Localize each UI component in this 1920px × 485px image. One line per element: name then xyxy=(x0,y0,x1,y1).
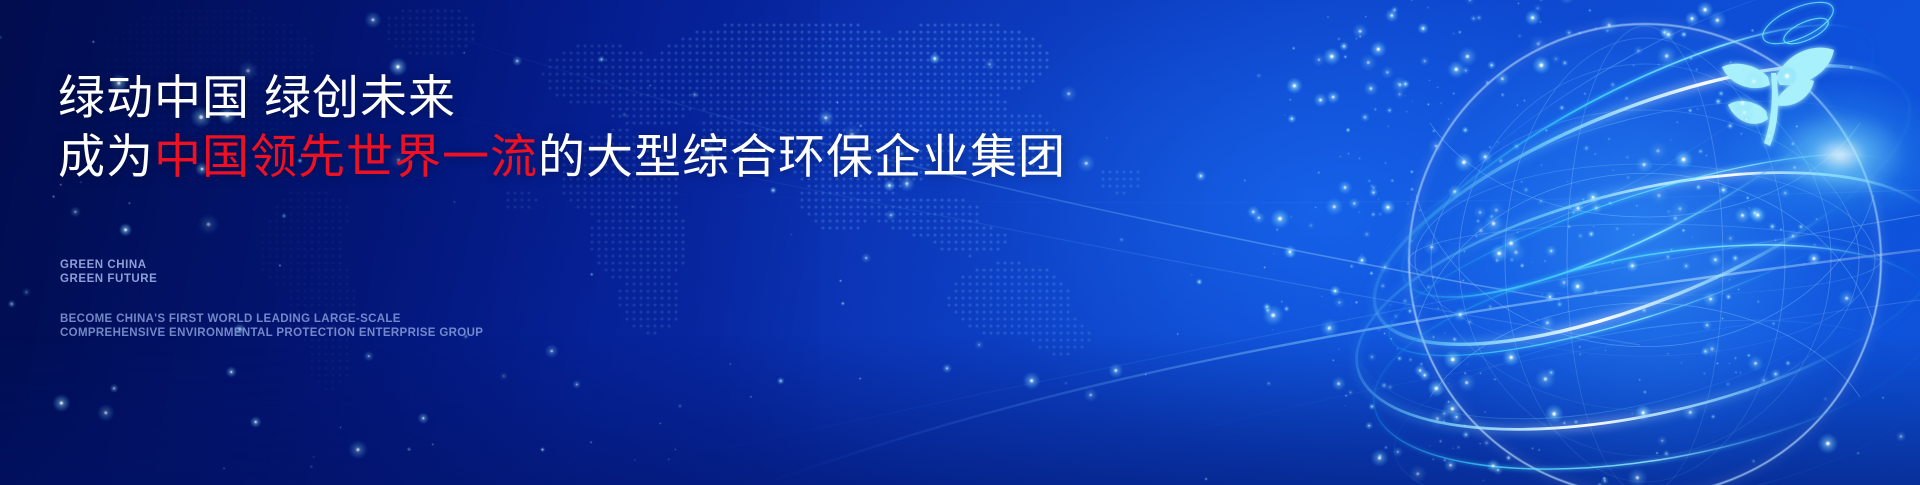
headline-highlight: 中国领先世界一流 xyxy=(154,130,538,183)
hero-banner: 绿动中国 绿创未来 成为中国领先世界一流的大型综合环保企业集团 GREEN CH… xyxy=(0,0,1920,485)
headline-line2-prefix: 成为 xyxy=(58,130,154,183)
headline-block: 绿动中国 绿创未来 成为中国领先世界一流的大型综合环保企业集团 xyxy=(58,68,1066,186)
tagline-en-line-1: BECOME CHINA'S FIRST WORLD LEADING LARGE… xyxy=(60,313,483,327)
tagline-en-line-2: COMPREHENSIVE ENVIRONMENTAL PROTECTION E… xyxy=(60,327,483,341)
sprout-seedling-icon xyxy=(1700,15,1850,160)
globe-graphic xyxy=(1320,0,1920,485)
slogan-en-block: GREEN CHINA GREEN FUTURE xyxy=(60,259,157,286)
slogan-en-line-1: GREEN CHINA xyxy=(60,259,157,273)
tagline-en-block: BECOME CHINA'S FIRST WORLD LEADING LARGE… xyxy=(60,313,483,340)
headline-line-2: 成为中国领先世界一流的大型综合环保企业集团 xyxy=(58,127,1066,186)
headline-line2-suffix: 的大型综合环保企业集团 xyxy=(538,130,1066,183)
headline-line-1: 绿动中国 绿创未来 xyxy=(58,68,1066,127)
slogan-en-line-2: GREEN FUTURE xyxy=(60,273,157,287)
